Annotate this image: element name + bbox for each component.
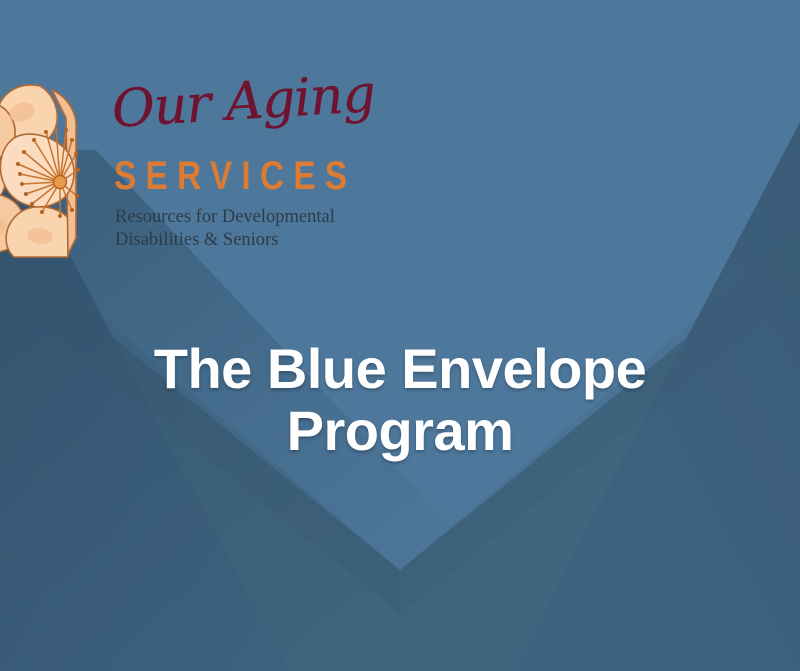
flower-center	[54, 176, 67, 189]
logo-subtitle-line-2: Disabilities & Seniors	[115, 229, 335, 252]
logo-script-our-aging: Our Aging	[110, 68, 375, 136]
logo-services-word: SERVICES	[114, 156, 356, 196]
our-aging-services-logo: Our Aging SERVICES Resources for Develop…	[0, 78, 348, 263]
page-title-line-1: The Blue Envelope	[0, 338, 800, 400]
logo-subtitle: Resources for Developmental Disabilities…	[115, 206, 335, 252]
page-title-line-2: Program	[0, 400, 800, 462]
page-title: The Blue Envelope Program	[0, 338, 800, 462]
logo-subtitle-line-1: Resources for Developmental	[115, 206, 335, 229]
blue-envelope-program-poster: Our Aging SERVICES Resources for Develop…	[0, 0, 800, 671]
logo-wordmark: Our Aging SERVICES Resources for Develop…	[112, 78, 348, 263]
poppy-flower-icon	[0, 78, 96, 258]
